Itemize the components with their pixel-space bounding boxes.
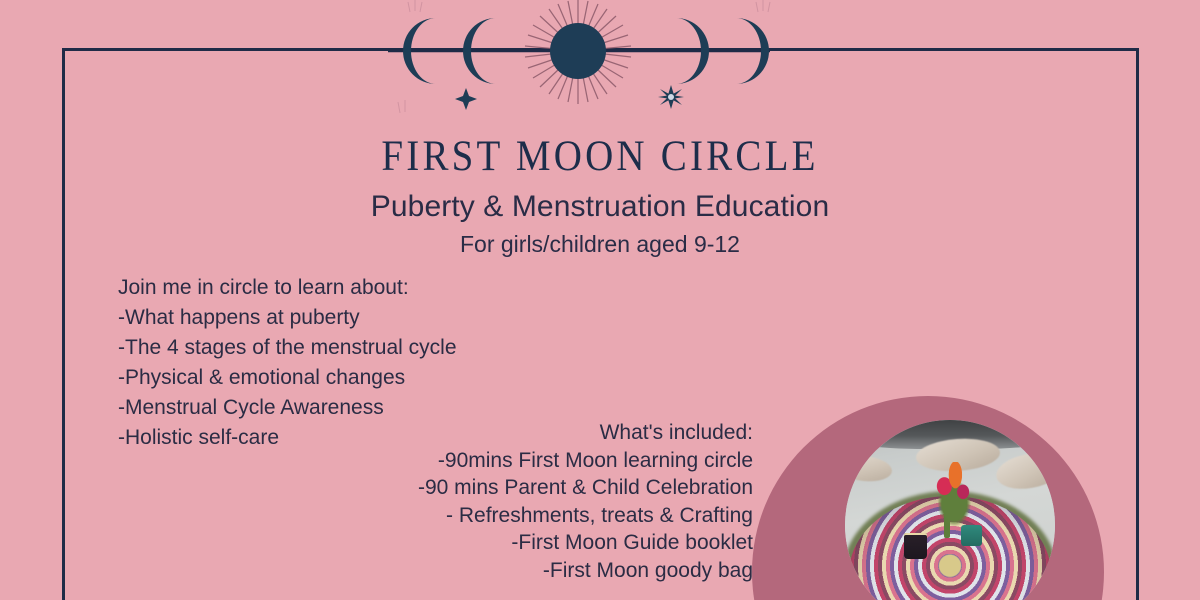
poster-canvas: FIRST MOON CIRCLE Puberty & Menstruation… — [0, 0, 1200, 600]
moon-phases-illustration — [388, 0, 788, 118]
page-audience-line: For girls/children aged 9-12 — [0, 231, 1200, 258]
page-subtitle: Puberty & Menstruation Education — [0, 190, 1200, 224]
four-point-star-icon — [455, 88, 477, 110]
list-item: -First Moon Guide booklet — [330, 529, 753, 557]
list-item: -What happens at puberty — [118, 303, 638, 333]
list-item: -First Moon goody bag — [330, 557, 753, 585]
learn-about-heading: Join me in circle to learn about: — [118, 273, 638, 303]
flower-mandala-altar-photo — [845, 420, 1055, 600]
page-title: FIRST MOON CIRCLE — [0, 131, 1200, 181]
photo-candle-dark — [904, 533, 927, 558]
list-item: -90 mins Parent & Child Celebration — [330, 474, 753, 502]
list-item: - Refreshments, treats & Crafting — [330, 502, 753, 530]
photo-candle-teal — [961, 525, 982, 546]
whats-included-list: What's included: -90mins First Moon lear… — [330, 419, 753, 584]
eight-point-starburst-icon — [658, 85, 684, 109]
whats-included-heading: What's included: — [330, 419, 753, 447]
faint-sparkle-bottom-left — [398, 100, 405, 113]
list-item: -Physical & emotional changes — [118, 363, 638, 393]
list-item: -90mins First Moon learning circle — [330, 447, 753, 475]
faint-sparkle-top-left — [408, 0, 422, 12]
faint-sparkle-top-right — [756, 0, 770, 12]
photo-tulips — [929, 462, 984, 533]
full-moon-disc — [550, 23, 606, 79]
list-item: -The 4 stages of the menstrual cycle — [118, 333, 638, 363]
